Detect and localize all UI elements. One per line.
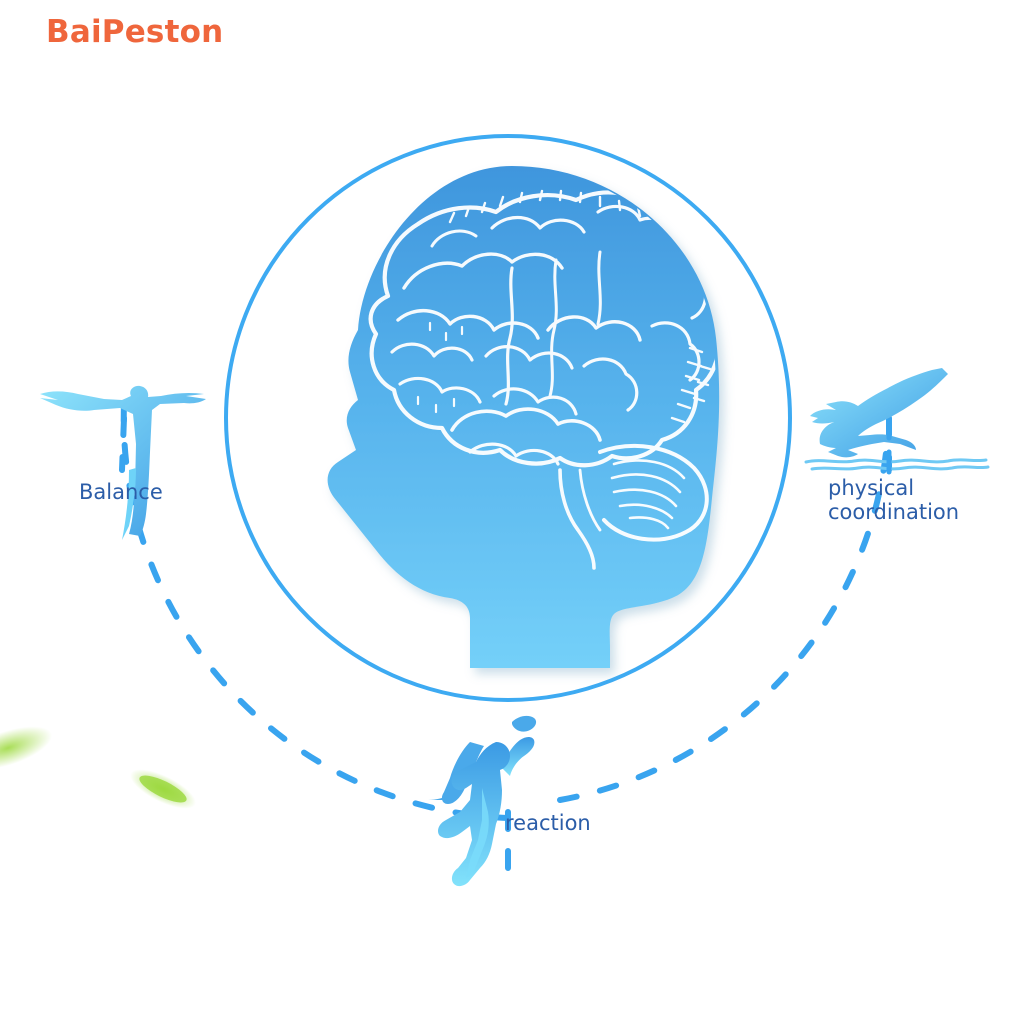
label-balance: Balance — [79, 481, 163, 505]
leaf-artifact-lower — [125, 762, 201, 817]
infographic-stage: BaiPeston Balance reaction physical coor… — [0, 0, 1024, 1024]
watermark-logo: BaiPeston — [46, 14, 223, 50]
child-head-silhouette — [328, 166, 720, 668]
label-physical-line1: physical — [828, 476, 914, 500]
swimmer-dive-icon — [806, 368, 988, 472]
badminton-player-icon — [428, 716, 536, 886]
label-physical-coordination: physical coordination — [828, 477, 959, 524]
label-physical-line2: coordination — [828, 501, 959, 525]
label-reaction: reaction — [505, 812, 591, 836]
leaf-artifact-left — [0, 718, 57, 779]
